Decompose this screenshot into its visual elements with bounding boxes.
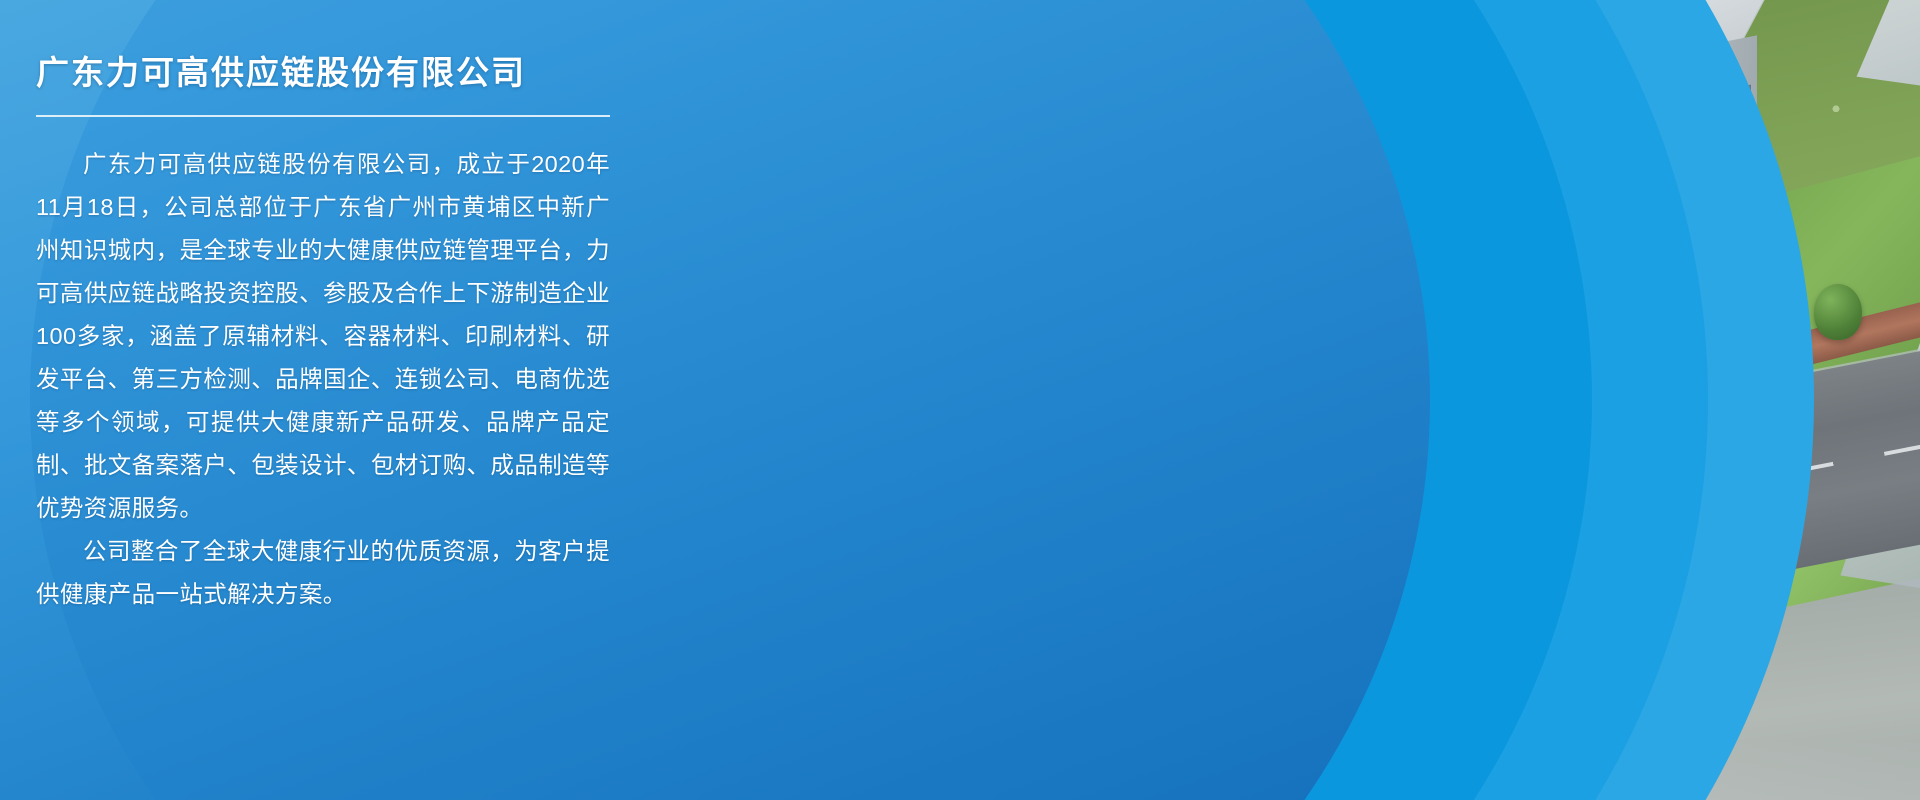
tree [1814, 284, 1862, 340]
intro-paragraph-1: 广东力可高供应链股份有限公司，成立于2020年11月18日，公司总部位于广东省广… [36, 143, 610, 530]
tree [1657, 232, 1703, 286]
page-title: 广东力可高供应链股份有限公司 [36, 52, 610, 93]
title-divider [36, 115, 610, 117]
tree [1735, 258, 1777, 308]
company-profile-banner: 广东力可高供应链股份有限公司 广东力可高供应链股份有限公司，成立于2020年11… [0, 0, 1920, 800]
campus-rendering-photo [940, 0, 1920, 800]
intro-paragraph-2: 公司整合了全球大健康行业的优质资源，为客户提供健康产品一站式解决方案。 [36, 530, 610, 616]
tree [1254, 476, 1294, 524]
bottom-haze [940, 740, 1920, 800]
tree [1164, 452, 1208, 504]
tree [996, 400, 1038, 450]
intro-text-column: 广东力可高供应链股份有限公司 广东力可高供应链股份有限公司，成立于2020年11… [0, 0, 640, 616]
tree [1074, 425, 1122, 481]
